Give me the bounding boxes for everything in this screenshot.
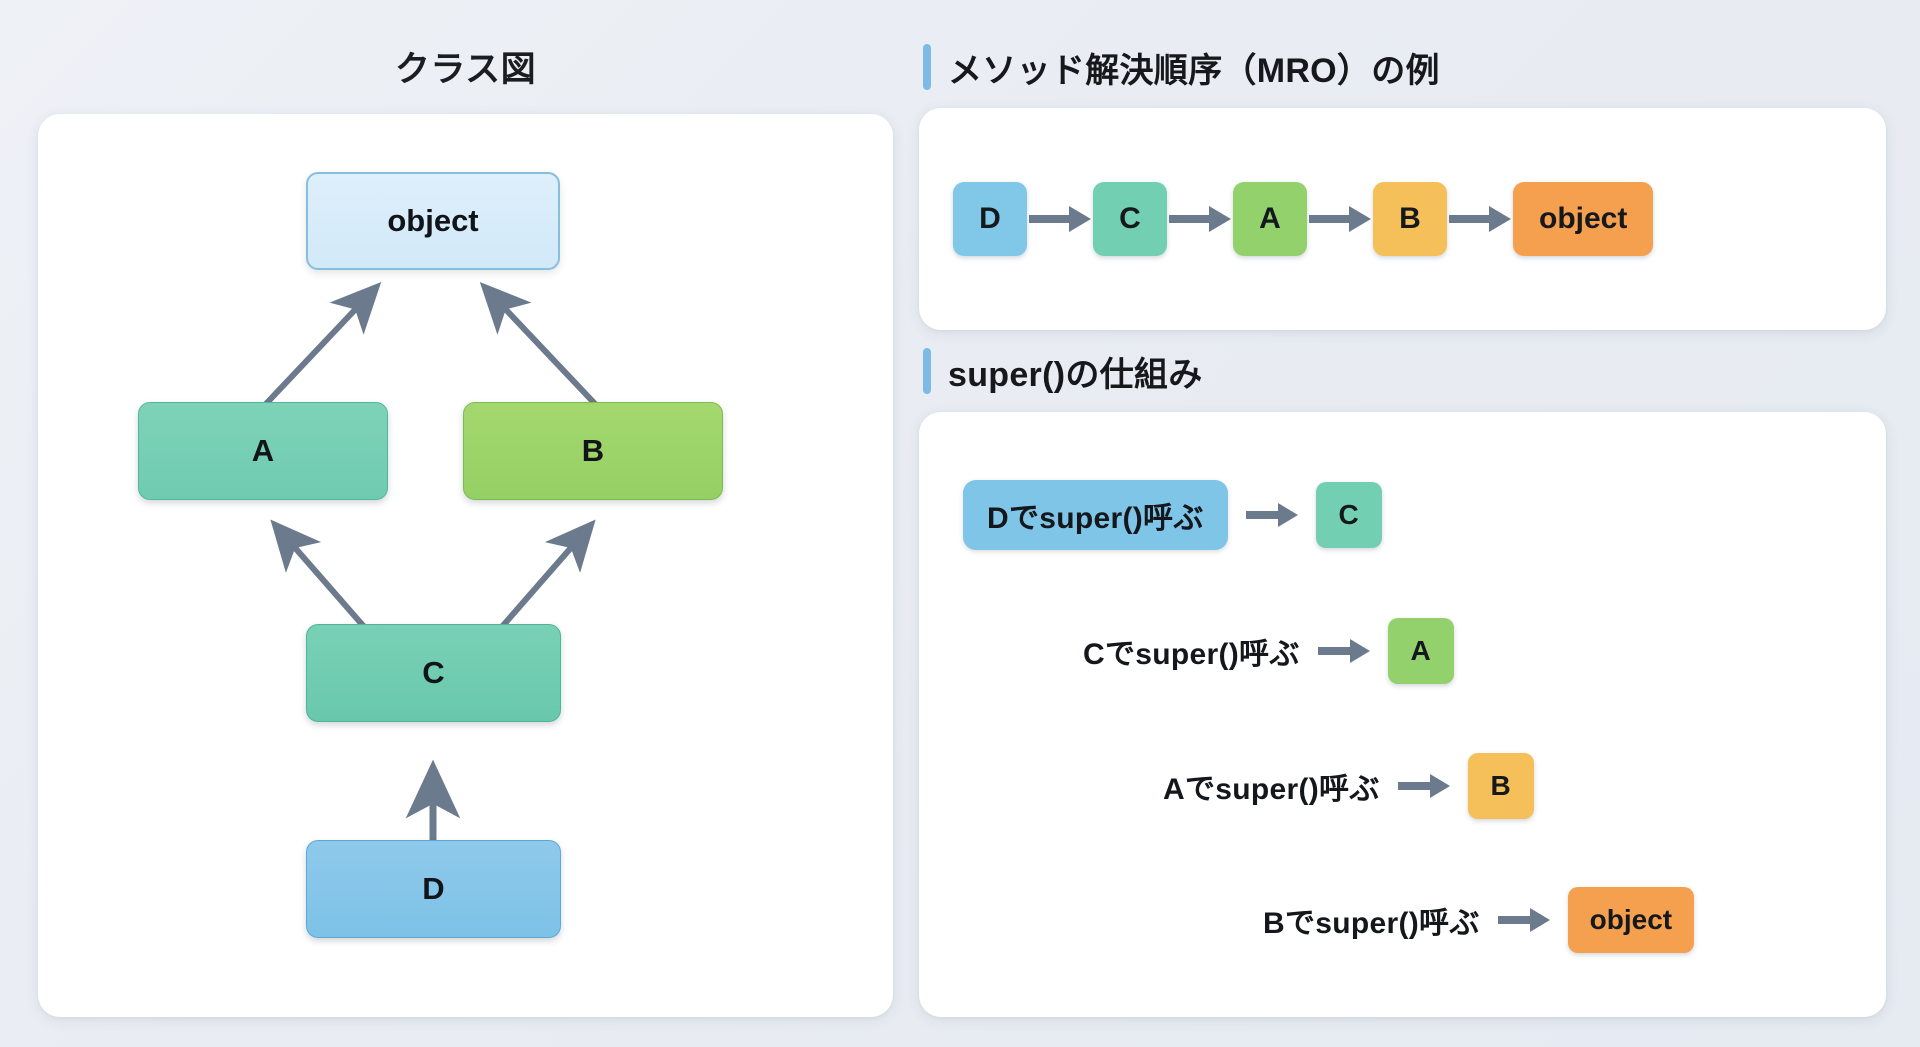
accent-bar-icon bbox=[923, 44, 931, 90]
class-node-b[interactable]: B bbox=[463, 402, 723, 500]
mro-chip-object[interactable]: object bbox=[1513, 182, 1653, 256]
class-node-object-label: object bbox=[387, 203, 478, 239]
super-target-object[interactable]: object bbox=[1568, 887, 1694, 953]
super-row-d-label: Dでsuper()呼ぶ bbox=[963, 480, 1228, 550]
class-node-d[interactable]: D bbox=[306, 840, 561, 938]
mro-card: D C A B bbox=[919, 108, 1886, 330]
super-target-c[interactable]: C bbox=[1316, 482, 1382, 548]
page-root: クラス図 bbox=[0, 0, 1920, 1047]
super-row-c: Cでsuper()呼ぶ A bbox=[963, 618, 1846, 684]
super-target-b[interactable]: B bbox=[1468, 753, 1534, 819]
class-node-b-label: B bbox=[582, 433, 604, 469]
arrow-right-icon bbox=[1307, 202, 1373, 236]
edge-c-to-b bbox=[493, 534, 583, 637]
class-diagram-card: object A B C D bbox=[38, 114, 893, 1017]
arrow-right-icon bbox=[1244, 500, 1300, 530]
mro-chip-object-label: object bbox=[1539, 202, 1627, 236]
class-node-a-label: A bbox=[252, 433, 274, 469]
class-node-c[interactable]: C bbox=[306, 624, 561, 722]
mro-chain: D C A B bbox=[919, 182, 1653, 256]
class-node-d-label: D bbox=[422, 871, 444, 907]
arrow-right-icon bbox=[1027, 202, 1093, 236]
explanation-column: メソッド解決順序（MRO）の例 D C A bbox=[919, 26, 1886, 1017]
class-node-a[interactable]: A bbox=[138, 402, 388, 500]
super-heading: super()の仕組み bbox=[948, 347, 1203, 396]
super-target-c-label: C bbox=[1339, 499, 1359, 531]
mro-chip-c-label: C bbox=[1119, 202, 1141, 236]
mro-chip-d[interactable]: D bbox=[953, 182, 1027, 256]
arrow-right-icon bbox=[1447, 202, 1513, 236]
arrow-right-icon bbox=[1496, 905, 1552, 935]
super-target-a[interactable]: A bbox=[1388, 618, 1454, 684]
edge-c-to-a bbox=[283, 534, 373, 637]
super-row-b: Bでsuper()呼ぶ object bbox=[963, 887, 1846, 953]
class-diagram: object A B C D bbox=[38, 114, 893, 1017]
super-row-d: Dでsuper()呼ぶ C bbox=[963, 480, 1846, 550]
mro-chip-c[interactable]: C bbox=[1093, 182, 1167, 256]
super-row-b-label: Bでsuper()呼ぶ bbox=[1263, 898, 1480, 942]
mro-chip-b-label: B bbox=[1399, 202, 1421, 236]
class-node-c-label: C bbox=[422, 655, 444, 691]
mro-chip-d-label: D bbox=[979, 202, 1001, 236]
arrow-right-icon bbox=[1316, 636, 1372, 666]
mro-section-header: メソッド解決順序（MRO）の例 bbox=[919, 26, 1886, 108]
super-target-b-label: B bbox=[1491, 770, 1511, 802]
arrow-right-icon bbox=[1167, 202, 1233, 236]
arrow-right-icon bbox=[1396, 771, 1452, 801]
mro-heading: メソッド解決順序（MRO）の例 bbox=[948, 43, 1440, 92]
class-diagram-column: クラス図 bbox=[38, 26, 893, 1017]
super-row-a-label: Aでsuper()呼ぶ bbox=[1163, 764, 1380, 808]
accent-bar-icon bbox=[923, 348, 931, 394]
class-node-object[interactable]: object bbox=[306, 172, 560, 270]
super-section-header: super()の仕組み bbox=[919, 330, 1886, 412]
edge-b-to-object bbox=[493, 296, 598, 407]
super-target-object-label: object bbox=[1590, 904, 1672, 936]
super-target-a-label: A bbox=[1411, 635, 1431, 667]
edge-a-to-object bbox=[263, 296, 368, 407]
page-title: クラス図 bbox=[38, 26, 893, 114]
super-card: Dでsuper()呼ぶ C Cでsuper()呼ぶ A Aでsuper()呼ぶ bbox=[919, 412, 1886, 1017]
mro-chip-a[interactable]: A bbox=[1233, 182, 1307, 256]
super-row-a: Aでsuper()呼ぶ B bbox=[963, 753, 1846, 819]
mro-chip-a-label: A bbox=[1259, 202, 1281, 236]
mro-chip-b[interactable]: B bbox=[1373, 182, 1447, 256]
super-row-c-label: Cでsuper()呼ぶ bbox=[1083, 629, 1300, 673]
